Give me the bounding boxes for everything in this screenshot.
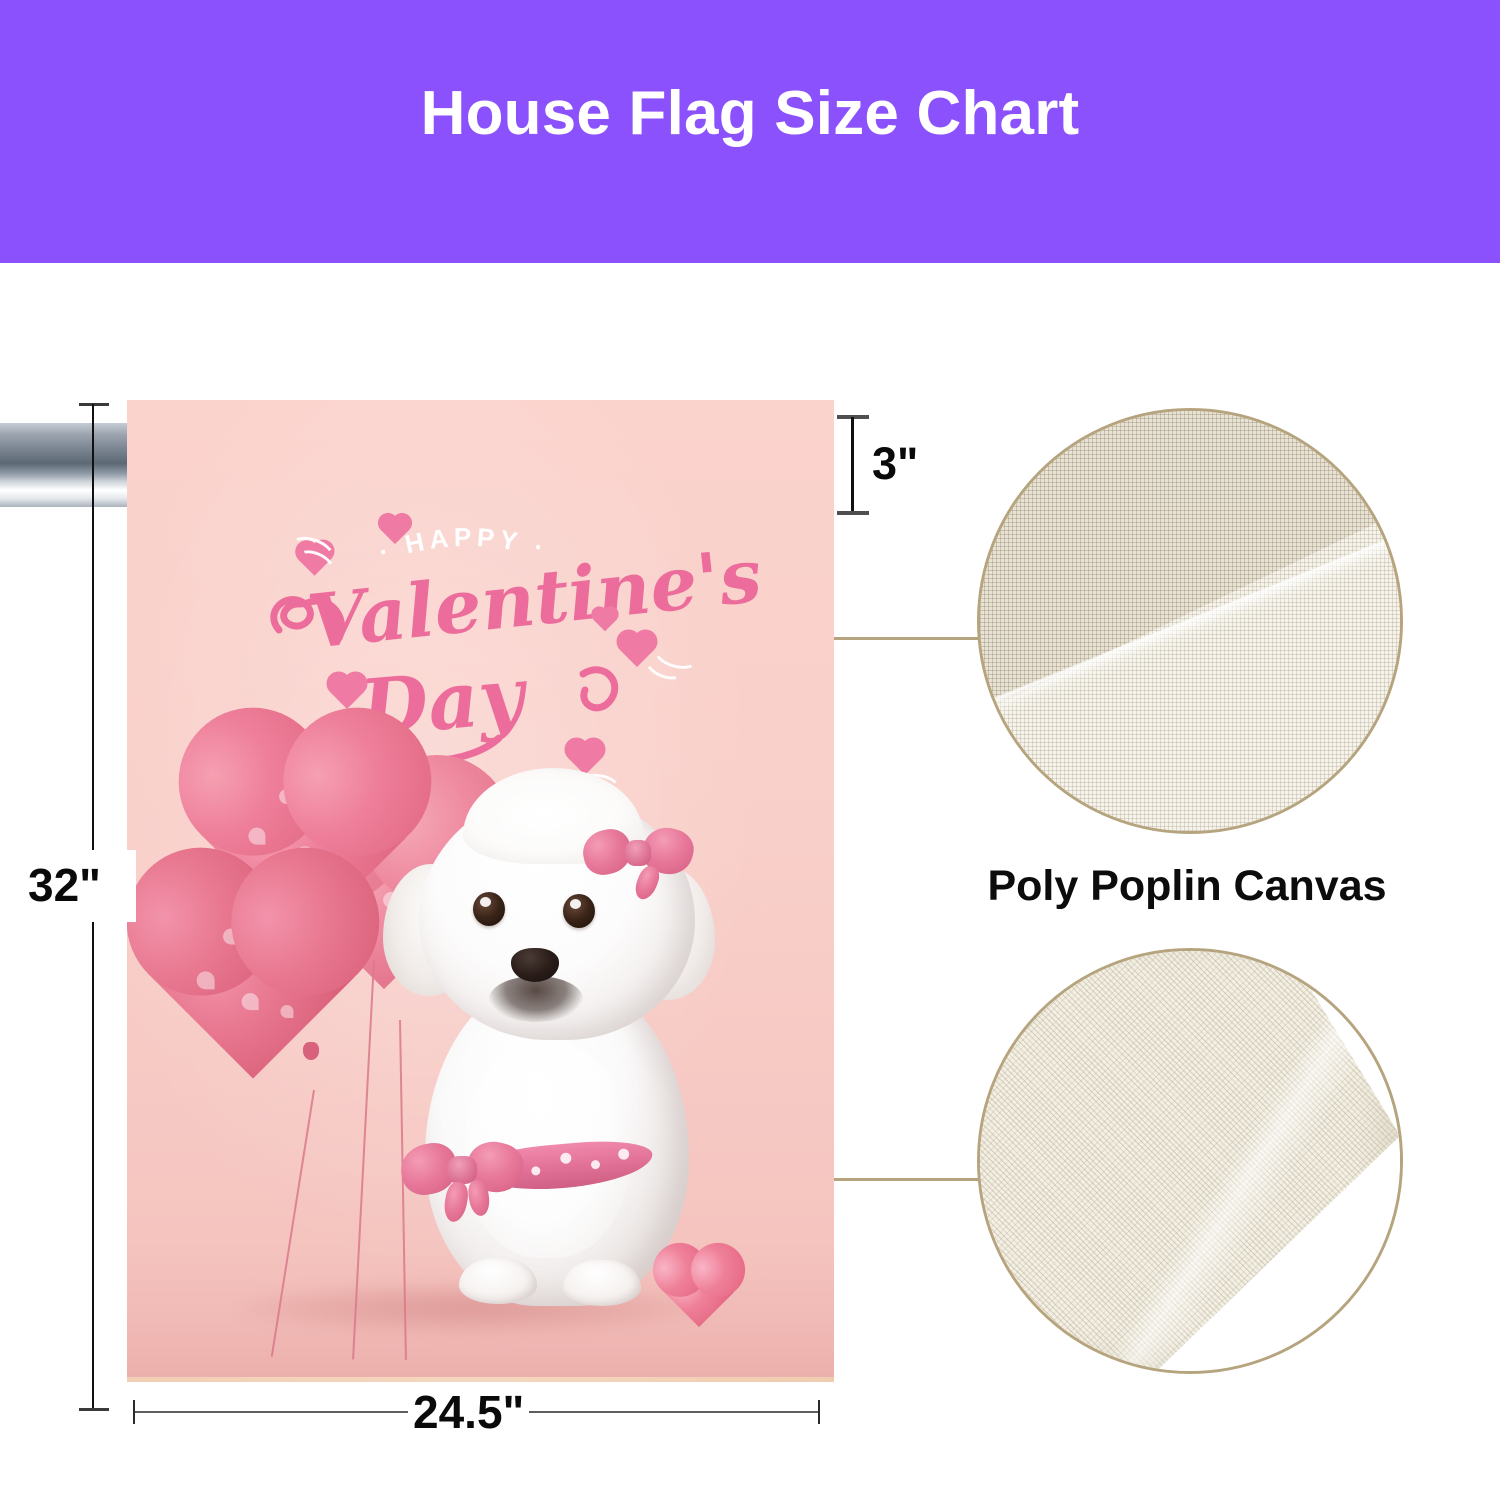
dim-width-cap-right bbox=[818, 1400, 820, 1424]
dog-muzzle bbox=[489, 976, 583, 1022]
dim-32-cap-bottom bbox=[79, 1408, 109, 1411]
dim-3-line bbox=[851, 417, 854, 515]
flag-product-image: · HAPPY · Valentine's Day bbox=[127, 400, 834, 1382]
header-bar: House Flag Size Chart bbox=[0, 0, 1500, 263]
fabric-fold-swatch-icon bbox=[977, 948, 1403, 1374]
dog-eye bbox=[563, 894, 595, 928]
dog-paw bbox=[459, 1258, 537, 1304]
dim-3-label: 3" bbox=[872, 438, 918, 490]
flag-bottom-trim bbox=[127, 1377, 834, 1382]
dog-eye bbox=[473, 892, 505, 926]
dim-3-cap-bottom bbox=[837, 511, 869, 515]
page-title: House Flag Size Chart bbox=[0, 78, 1500, 149]
fabric-weave-swatch-icon bbox=[977, 408, 1403, 834]
dog-paw bbox=[563, 1260, 641, 1306]
ground-heart-icon bbox=[672, 1262, 726, 1316]
dog-collar-bow bbox=[401, 1138, 525, 1214]
material-label: Poly Poplin Canvas bbox=[977, 862, 1397, 911]
dim-width-cap-left bbox=[133, 1400, 135, 1424]
dim-32-line-lower bbox=[92, 662, 94, 1410]
puppy-illustration bbox=[377, 740, 737, 1320]
dim-32-label: 32" bbox=[28, 858, 101, 912]
dim-width-label: 24.5" bbox=[408, 1386, 529, 1438]
heart-balloon bbox=[179, 900, 327, 1048]
dim-32-cap-top bbox=[79, 403, 109, 406]
dog-head-bow bbox=[583, 826, 695, 888]
swatch-fold-highlight bbox=[980, 411, 1400, 831]
